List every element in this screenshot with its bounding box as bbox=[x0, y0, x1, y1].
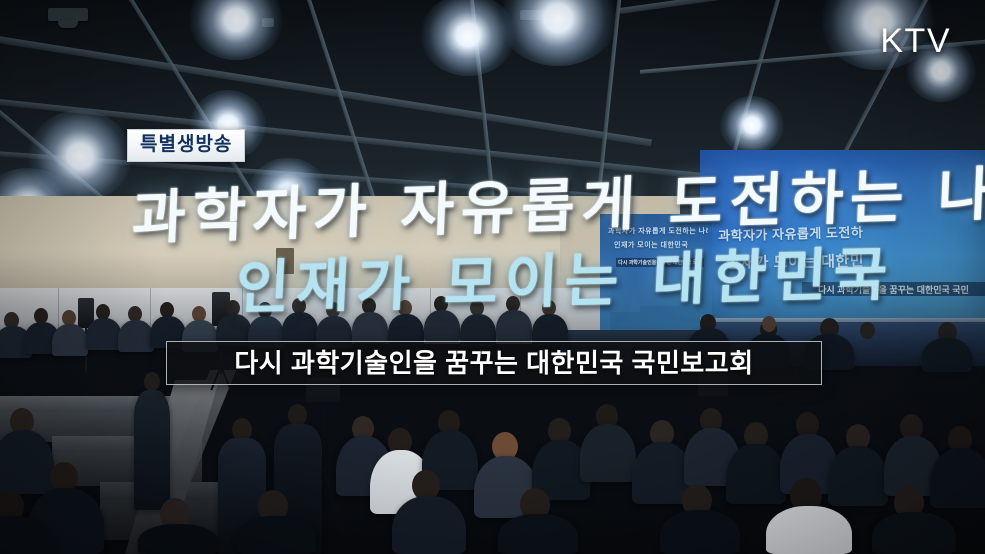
standing-attendee-head bbox=[288, 404, 307, 426]
subtitle-text: 다시 과학기술인을 꿈꾸는 대한민국 국민보고회 bbox=[234, 350, 753, 376]
audience-member bbox=[930, 448, 985, 508]
audience-member bbox=[726, 444, 786, 504]
headline-line-2: 인재가 모이는 대한민국 bbox=[235, 245, 896, 317]
audience-member bbox=[138, 524, 218, 554]
audience-member bbox=[118, 320, 154, 352]
broadcast-frame: 과학자가 자유롭게 도전하 인재가 모이는 대한민 다시 과학기술인을 꿈꾸는 … bbox=[0, 0, 985, 554]
audience-member bbox=[392, 496, 466, 554]
channel-logo: KTV bbox=[880, 24, 951, 58]
ceiling-fixture bbox=[262, 18, 274, 27]
standing-attendee bbox=[134, 390, 170, 510]
subtitle-bar: 다시 과학기술인을 꿈꾸는 대한민국 국민보고회 bbox=[166, 341, 822, 385]
audience-member bbox=[236, 516, 316, 554]
audience-member bbox=[872, 512, 956, 554]
audience-member bbox=[828, 446, 888, 506]
audience-member bbox=[580, 424, 636, 482]
live-broadcast-badge: 특별생방송 bbox=[127, 129, 245, 162]
ceiling-fixture bbox=[520, 10, 546, 20]
audience-member bbox=[766, 506, 852, 554]
audience-member bbox=[52, 324, 88, 356]
audience-member bbox=[498, 514, 578, 554]
audience-member bbox=[660, 510, 740, 554]
audience-member bbox=[86, 318, 122, 350]
standing-attendee-head bbox=[144, 372, 160, 391]
ceiling-fixture bbox=[58, 20, 78, 28]
